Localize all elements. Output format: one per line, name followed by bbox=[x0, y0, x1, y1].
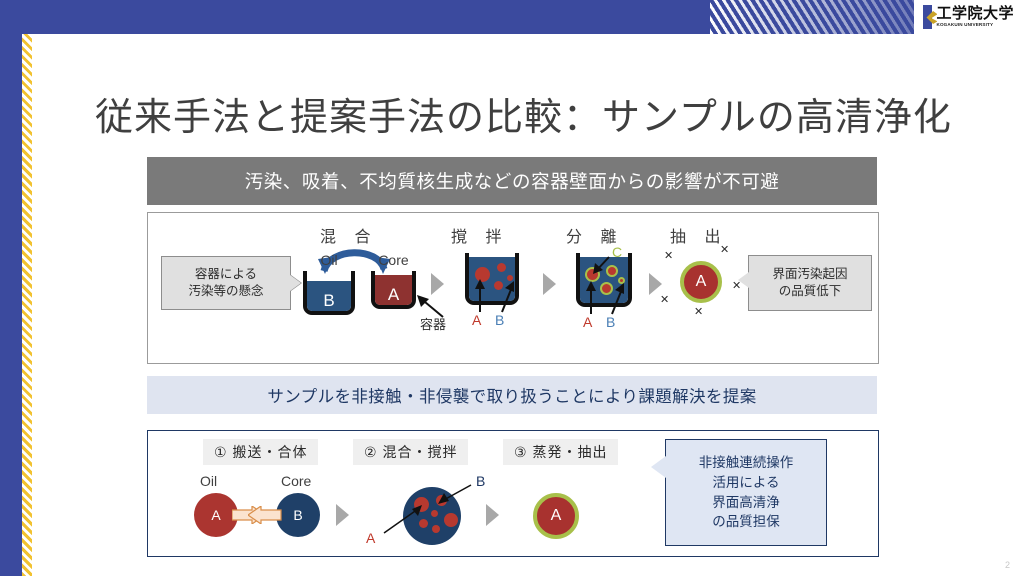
proposal-flow-arrow-2-icon bbox=[486, 504, 499, 526]
separate-tag-c-pointer-icon bbox=[592, 255, 612, 275]
beaker-core-content: A bbox=[371, 285, 416, 305]
separate-tag-b: B bbox=[606, 314, 615, 330]
stir-tag-a-pointer-icon bbox=[473, 279, 489, 313]
proposal-step-2-chip: ② 混合・撹拌 bbox=[353, 439, 468, 465]
final-particle-label: A bbox=[551, 507, 562, 525]
contamination-x-icon: ✕ bbox=[694, 305, 703, 318]
flow-arrow-3-icon bbox=[649, 273, 662, 295]
step-label-stir: 撹 拌 bbox=[451, 223, 508, 247]
callout-bottom-line2: 活用による bbox=[712, 473, 779, 493]
droplet bbox=[431, 510, 438, 517]
slide-root: 工学院大学 KOGAKUIN UNIVERSITY 従来手法と提案手法の比較：サ… bbox=[0, 0, 1024, 576]
beaker-oil-content: B bbox=[303, 291, 355, 311]
flow-arrow-2-icon bbox=[543, 273, 556, 295]
beaker-core-label: Core bbox=[371, 252, 416, 268]
contamination-x-icon: ✕ bbox=[660, 293, 669, 306]
logo-text: 工学院大学 KOGAKUIN UNIVERSITY bbox=[936, 6, 1014, 28]
callout-vessel-contamination-concern: 容器による 汚染等の懸念 bbox=[161, 256, 291, 310]
droplet-oil-label: Oil bbox=[200, 473, 217, 489]
step-label-extract: 抽 出 bbox=[670, 223, 727, 247]
separate-tag-b-pointer-icon bbox=[609, 283, 627, 315]
callout-bottom-line1: 非接触連続操作 bbox=[699, 453, 794, 473]
vessel-note-label: 容器 bbox=[420, 314, 446, 333]
droplet bbox=[497, 263, 506, 272]
beaker-oil-label: Oil bbox=[303, 252, 355, 268]
beaker-core: Core A bbox=[371, 271, 416, 309]
left-blue-rail bbox=[0, 34, 22, 576]
separate-tag-a-pointer-icon bbox=[584, 281, 600, 315]
callout-interface-contamination-quality: 界面汚染起因 の品質低下 bbox=[748, 255, 872, 311]
callout-bottom-line3: 界面高清浄 bbox=[712, 493, 780, 513]
beaker-separate: C A B bbox=[576, 253, 632, 307]
proposal-step-1-chip: ① 搬送・合体 bbox=[203, 439, 318, 465]
flow-arrow-1-icon bbox=[431, 273, 444, 295]
callout-bottom-line4: の品質担保 bbox=[712, 512, 780, 532]
proposal-flow-arrow-1-icon bbox=[336, 504, 349, 526]
page-title: 従来手法と提案手法の比較：サンプルの高清浄化 bbox=[95, 86, 975, 141]
university-logo: 工学院大学 KOGAKUIN UNIVERSITY bbox=[923, 3, 1014, 31]
callout-left-line1: 容器による bbox=[195, 266, 257, 283]
stir-tag-b: B bbox=[495, 312, 504, 328]
merged-tag-a-pointer-icon bbox=[376, 503, 426, 537]
extracted-particle: A bbox=[680, 261, 722, 303]
callout-right-line1: 界面汚染起因 bbox=[772, 266, 847, 283]
proposed-method-panel: ① 搬送・合体 ② 混合・撹拌 ③ 蒸発・抽出 Oil A Core B bbox=[147, 430, 879, 557]
callout-noncontact-quality: 非接触連続操作 活用による 界面高清浄 の品質担保 bbox=[665, 439, 827, 546]
merge-arrow-left-icon bbox=[248, 506, 282, 524]
callout-left-line2: 汚染等の懸念 bbox=[188, 283, 263, 300]
header-diagonal-stripes bbox=[710, 0, 920, 34]
logo-en-name: KOGAKUIN UNIVERSITY bbox=[936, 23, 1014, 28]
droplet-core: B bbox=[276, 493, 320, 537]
page-number: 2 bbox=[1005, 560, 1010, 570]
merged-tag-b: B bbox=[476, 473, 485, 489]
droplet-oil-content: A bbox=[211, 507, 220, 523]
merged-tag-a: A bbox=[366, 530, 375, 546]
kogakuin-crest-icon bbox=[923, 5, 932, 29]
proposal-banner: サンプルを非接触・非侵襲で取り扱うことにより課題解決を提案 bbox=[147, 376, 877, 414]
separate-tag-a: A bbox=[583, 314, 592, 330]
conventional-problem-banner: 汚染、吸着、不均質核生成などの容器壁面からの影響が不可避 bbox=[147, 157, 877, 205]
droplet bbox=[444, 513, 458, 527]
stir-tag-a: A bbox=[472, 312, 481, 328]
final-particle: A bbox=[533, 493, 579, 539]
contamination-x-icon: ✕ bbox=[720, 243, 729, 256]
extracted-particle-label: A bbox=[696, 273, 707, 291]
beaker-stir: A B bbox=[465, 253, 519, 305]
droplet-core-content: B bbox=[293, 507, 302, 523]
contamination-x-icon: ✕ bbox=[664, 249, 673, 262]
proposal-step-3-chip: ③ 蒸発・抽出 bbox=[503, 439, 618, 465]
droplet-core-label: Core bbox=[281, 473, 311, 489]
left-yellow-striped-rail bbox=[22, 34, 32, 576]
logo-jp-name: 工学院大学 bbox=[936, 6, 1014, 21]
separate-tag-c: C bbox=[612, 244, 622, 260]
callout-right-line2: の品質低下 bbox=[779, 283, 842, 300]
beaker-oil: Oil B bbox=[303, 271, 355, 315]
conventional-method-panel: 混 合 撹 拌 分 離 抽 出 容器による 汚染等の懸念 Oil B Core bbox=[147, 212, 879, 364]
stir-tag-b-pointer-icon bbox=[499, 281, 517, 313]
droplet bbox=[432, 525, 440, 533]
